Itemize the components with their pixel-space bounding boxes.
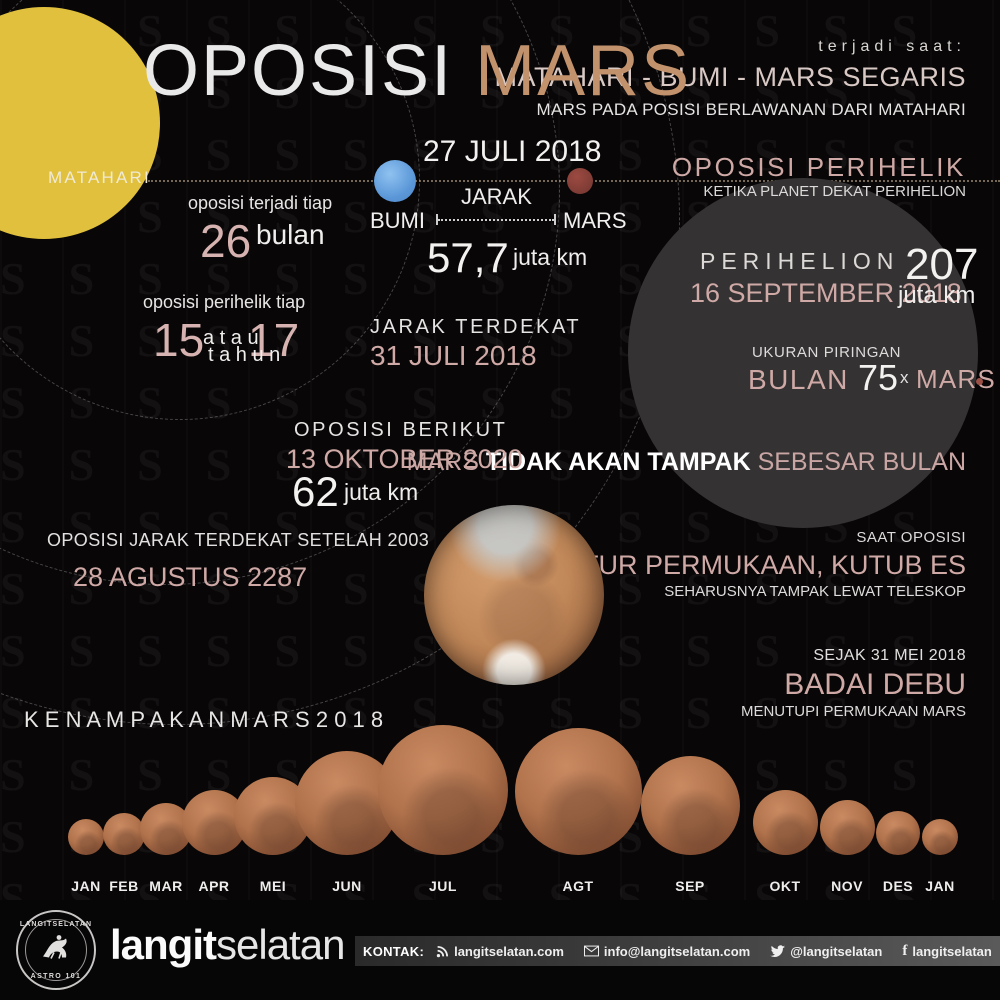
- perihelic-every-unit: t a h u n: [208, 344, 280, 367]
- telescope-title: FITUR PERMUKAAN, KUTUB ES: [558, 550, 966, 581]
- distance-unit: juta km: [513, 244, 587, 271]
- logo-bottom-text: ASTRO 101: [18, 973, 94, 980]
- dust-storm-title: BADAI DEBU: [784, 668, 966, 702]
- mars-size-ball: [68, 819, 104, 855]
- mars-size-ball: [378, 725, 508, 855]
- disk-size-moon: BULAN: [748, 364, 849, 396]
- next-opposition-value: 62: [292, 468, 339, 516]
- month-label-jul: JUL: [429, 878, 457, 894]
- earth-label: BUMI: [370, 208, 425, 234]
- distance-label: JARAK: [461, 184, 532, 210]
- langitselatan-logo: LANGITSELATAN ASTRO 101: [16, 910, 96, 990]
- telescope-subtitle: SEHARUSNYA TAMPAK LEWAT TELESKOP: [664, 583, 966, 600]
- perihelion-unit: juta km: [898, 282, 975, 310]
- mars-size-ball: [922, 819, 958, 855]
- twitter-icon: [770, 945, 785, 958]
- month-label-sep: SEP: [675, 878, 705, 894]
- mars-label: MARS: [563, 208, 627, 234]
- mars-size-ball: [103, 813, 145, 855]
- title-part-1: OPOSISI: [143, 31, 453, 111]
- myth-line-c: SEBESAR BULAN: [751, 448, 966, 476]
- dust-storm-subtitle: MENUTUPI PERMUKAAN MARS: [741, 703, 966, 720]
- myth-line-b: TIDAK AKAN TAMPAK: [486, 448, 751, 476]
- contact-link-facebook-text: langitselatan: [912, 944, 991, 959]
- disk-size-times: x: [900, 368, 909, 388]
- telescope-kicker: SAAT OPOSISI: [856, 529, 966, 546]
- dust-storm-kicker: SEJAK 31 MEI 2018: [813, 647, 966, 665]
- perihelion-label: PERIHELION: [700, 248, 899, 275]
- appearance-title: K E N A M P A K A N M A R S 2 0 1 8: [24, 707, 383, 733]
- mars-photo: [424, 505, 604, 685]
- horse-icon: [39, 933, 73, 968]
- month-label-jun: JUN: [332, 878, 362, 894]
- contact-link-website-text: langitselatan.com: [454, 944, 564, 959]
- closest-label: JARAK TERDEKAT: [370, 316, 581, 339]
- disk-size-factor: 75: [858, 357, 898, 399]
- closest-after-2003-date: 28 AGUSTUS 2287: [73, 562, 307, 593]
- mars-dot-icon: [969, 373, 983, 391]
- contact-link-twitter-text: @langitselatan: [790, 944, 882, 959]
- infographic-canvas: SSSSSSSSSSSSSSSSSSSSSSSSSSSSSSSSSSSSSSSS…: [0, 0, 1000, 1000]
- mars-size-ball: [641, 756, 740, 855]
- month-label-feb: FEB: [109, 878, 139, 894]
- perihelic-every-label: oposisi perihelik tiap: [143, 292, 305, 313]
- contact-bar: KONTAK: langitselatan.com info@langitsel…: [355, 936, 1000, 966]
- contact-link-website[interactable]: langitselatan.com: [436, 944, 564, 959]
- opposition-every-label: oposisi terjadi tiap: [188, 193, 332, 214]
- month-label-mei: MEI: [260, 878, 286, 894]
- contact-label: KONTAK:: [363, 944, 424, 959]
- wordmark-light: selatan: [216, 921, 344, 968]
- mars-dot: [567, 168, 593, 194]
- month-label-agt: AGT: [562, 878, 593, 894]
- earth-dot: [374, 160, 416, 202]
- contact-link-email-text: info@langitselatan.com: [604, 944, 750, 959]
- closest-date: 31 JULI 2018: [370, 340, 537, 372]
- wordmark: langitselatan: [110, 921, 344, 969]
- mars-size-ball: [515, 728, 642, 855]
- contact-link-email[interactable]: info@langitselatan.com: [584, 944, 750, 959]
- page-title: OPOSISIMARS: [143, 30, 691, 112]
- facebook-icon: f: [902, 943, 907, 960]
- mars-size-ball: [820, 800, 875, 855]
- title-part-2: MARS: [475, 31, 691, 111]
- disk-size-mars: MARS: [916, 364, 996, 395]
- opposition-every-unit: bulan: [256, 219, 325, 251]
- month-label-des: DES: [883, 878, 913, 894]
- perihelic-subtitle: KETIKA PLANET DEKAT PERIHELION: [703, 183, 966, 200]
- month-label-apr: APR: [198, 878, 229, 894]
- distance-measure-line: [434, 214, 558, 225]
- perihelic-every-value-1: 15: [153, 313, 204, 367]
- mars-size-ball: [876, 811, 920, 855]
- mars-size-ball: [753, 790, 818, 855]
- closest-after-2003-label: OPOSISI JARAK TERDEKAT SETELAH 2003: [47, 530, 429, 551]
- rss-icon: [436, 945, 449, 958]
- logo-top-text: LANGITSELATAN: [18, 921, 94, 928]
- contact-link-facebook[interactable]: f langitselatan: [902, 943, 991, 960]
- distance-value: 57,7: [427, 234, 509, 282]
- next-opposition-unit: juta km: [344, 479, 418, 506]
- month-label-nov: NOV: [831, 878, 863, 894]
- perihelic-title: OPOSISI PERIHELIK: [672, 152, 966, 183]
- month-label-mar: MAR: [149, 878, 182, 894]
- opposition-2018-date: 27 JULI 2018: [423, 135, 601, 169]
- month-label-okt: OKT: [769, 878, 800, 894]
- header-kicker: terjadi saat:: [818, 38, 966, 56]
- wordmark-bold: langit: [110, 921, 216, 968]
- opposition-every-value: 26: [200, 214, 251, 268]
- month-label-jan: JAN: [71, 878, 101, 894]
- month-label-jan: JAN: [925, 878, 955, 894]
- sun-label: MATAHARI: [48, 168, 151, 188]
- contact-link-twitter[interactable]: @langitselatan: [770, 944, 882, 959]
- next-opposition-label: OPOSISI BERIKUT: [294, 419, 507, 442]
- mail-icon: [584, 945, 599, 957]
